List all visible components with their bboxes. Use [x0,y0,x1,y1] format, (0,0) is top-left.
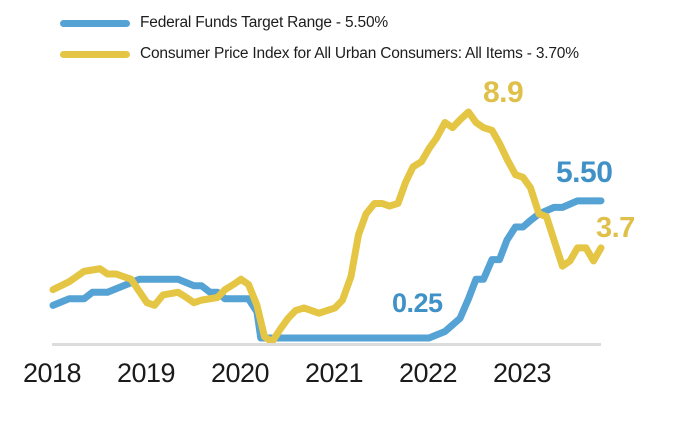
annotation-ffr-floor: 0.25 [392,288,443,319]
series-line-cpi [53,112,601,342]
legend-label-cpi: Consumer Price Index for All Urban Consu… [140,45,579,63]
legend-swatch-federal-funds [60,20,130,27]
x-tick-2020: 2020 [211,358,269,389]
annotation-cpi-peak: 8.9 [483,76,523,110]
legend-swatch-cpi [60,51,130,58]
x-tick-2022: 2022 [399,358,457,389]
x-tick-2023: 2023 [493,358,551,389]
x-axis-ticks: 201820192020202120222023 [0,358,689,392]
x-tick-2021: 2021 [305,358,363,389]
legend-item-federal-funds[interactable]: Federal Funds Target Range - 5.50% [60,12,388,34]
series-line-federal-funds [53,201,601,338]
annotation-ffr-current: 5.50 [556,156,612,190]
x-tick-2019: 2019 [117,358,175,389]
x-tick-2018: 2018 [23,358,81,389]
annotation-cpi-current: 3.7 [596,212,635,245]
legend-label-federal-funds: Federal Funds Target Range - 5.50% [140,14,388,32]
legend-item-cpi[interactable]: Consumer Price Index for All Urban Consu… [60,43,579,65]
x-axis-line [52,343,601,346]
interest-rate-inflation-chart: Federal Funds Target Range - 5.50% Consu… [0,0,689,423]
